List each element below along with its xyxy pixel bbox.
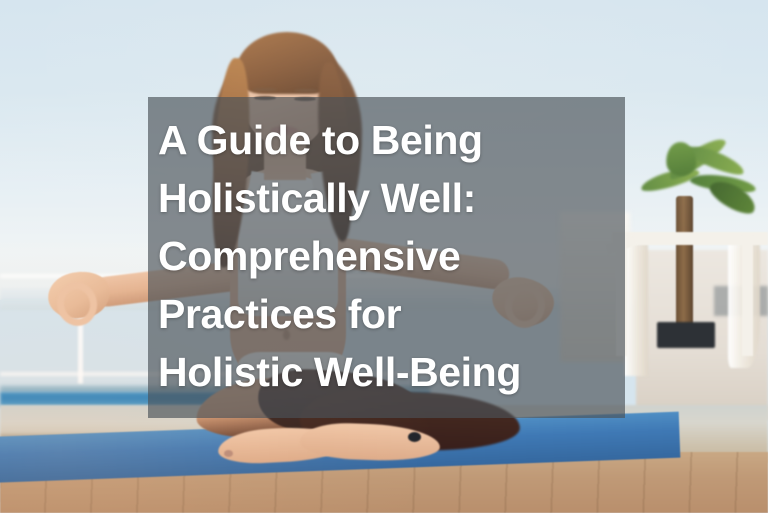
hero-image: A Guide to Being Holistically Well: Comp…: [0, 0, 768, 513]
eyebrow: [253, 88, 277, 91]
page-title: A Guide to Being Holistically Well: Comp…: [158, 111, 615, 401]
title-overlay-panel: A Guide to Being Holistically Well: Comp…: [148, 97, 625, 418]
eyebrow: [294, 89, 318, 92]
toenail: [408, 432, 421, 442]
toenail: [224, 450, 233, 457]
